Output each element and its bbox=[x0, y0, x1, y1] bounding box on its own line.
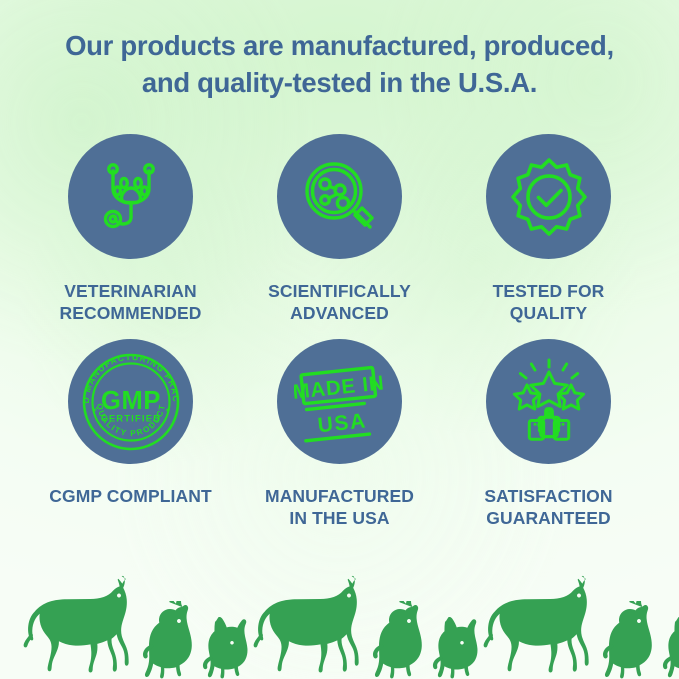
svg-text:CERTIFIED: CERTIFIED bbox=[100, 412, 160, 423]
badge-tested-for-quality: TESTED FOR QUALITY bbox=[444, 134, 653, 339]
horse-silhouette bbox=[482, 571, 600, 679]
animal-group bbox=[482, 571, 679, 679]
badge-disc bbox=[68, 134, 193, 259]
svg-text:USA: USA bbox=[316, 409, 367, 437]
magnifier-molecule-icon bbox=[300, 157, 380, 237]
stars-thumbs-up-icon bbox=[505, 358, 593, 446]
badge-disc bbox=[486, 339, 611, 464]
gmp-certified-seal-icon: GOOD MANUFACTURING PRACTICE QUALITY PROD… bbox=[77, 348, 185, 456]
dog-silhouette bbox=[372, 601, 430, 679]
made-in-usa-stamp-icon: MADE IN USA bbox=[294, 359, 386, 445]
page-title-line-1: Our products are manufactured, produced, bbox=[14, 28, 665, 65]
badge-disc: GOOD MANUFACTURING PRACTICE QUALITY PROD… bbox=[68, 339, 193, 464]
dog-silhouette bbox=[142, 601, 200, 679]
animal-group bbox=[252, 571, 482, 679]
badge-label: SCIENTIFICALLY ADVANCED bbox=[268, 280, 411, 324]
animal-silhouettes-strip bbox=[0, 557, 679, 679]
badge-cgmp-compliant: GOOD MANUFACTURING PRACTICE QUALITY PROD… bbox=[26, 339, 235, 544]
stethoscope-paw-icon bbox=[91, 157, 171, 237]
badge-label: CGMP COMPLIANT bbox=[49, 485, 211, 507]
cat-silhouette bbox=[662, 617, 679, 679]
badge-label: TESTED FOR QUALITY bbox=[493, 280, 605, 324]
animal-group bbox=[22, 571, 252, 679]
badge-disc bbox=[277, 134, 402, 259]
starburst-check-icon bbox=[508, 156, 590, 238]
badge-scientifically-advanced: SCIENTIFICALLY ADVANCED bbox=[235, 134, 444, 339]
page-title: Our products are manufactured, produced,… bbox=[0, 28, 679, 102]
badge-manufactured-in-usa: MADE IN USA MANUFACTURED IN THE USA bbox=[235, 339, 444, 544]
horse-silhouette bbox=[22, 571, 140, 679]
dog-silhouette bbox=[602, 601, 660, 679]
cat-silhouette bbox=[432, 617, 482, 679]
badge-disc: MADE IN USA bbox=[277, 339, 402, 464]
badge-label: MANUFACTURED IN THE USA bbox=[265, 485, 414, 529]
badge-label: SATISFACTION GUARANTEED bbox=[484, 485, 612, 529]
badge-label: VETERINARIAN RECOMMENDED bbox=[59, 280, 201, 324]
badge-disc bbox=[486, 134, 611, 259]
page-title-line-2: and quality-tested in the U.S.A. bbox=[14, 65, 665, 102]
horse-silhouette bbox=[252, 571, 370, 679]
badge-satisfaction-guaranteed: SATISFACTION GUARANTEED bbox=[444, 339, 653, 544]
trust-badges-poster: Our products are manufactured, produced,… bbox=[0, 0, 679, 679]
badge-grid: VETERINARIAN RECOMMENDED bbox=[0, 134, 679, 544]
svg-text:MADE IN: MADE IN bbox=[294, 371, 386, 404]
svg-text:GMP: GMP bbox=[101, 387, 161, 415]
badge-veterinarian-recommended: VETERINARIAN RECOMMENDED bbox=[26, 134, 235, 339]
cat-silhouette bbox=[202, 617, 252, 679]
